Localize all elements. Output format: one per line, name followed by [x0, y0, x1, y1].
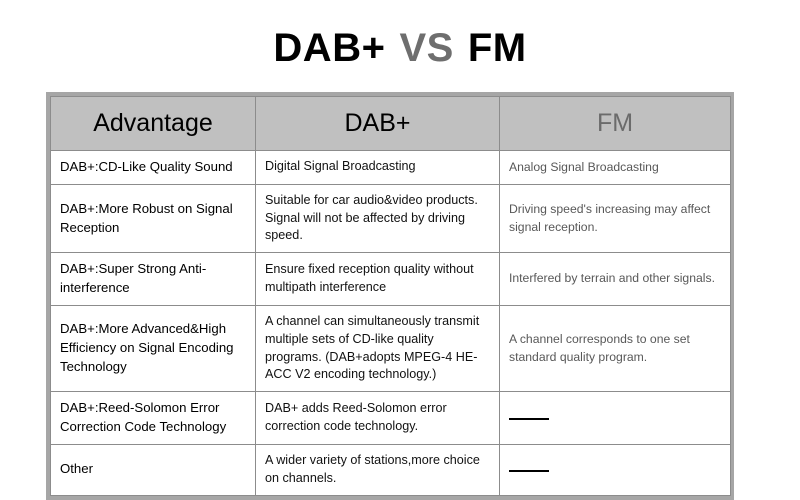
comparison-table-container: Advantage DAB+ FM DAB+:CD-Like Quality S…: [46, 92, 734, 500]
cell-advantage-text: Other: [60, 461, 93, 476]
table-row: DAB+:More Robust on Signal Reception Sui…: [51, 184, 731, 253]
column-header-dab: DAB+: [256, 97, 500, 151]
cell-advantage-text: DAB+:CD-Like Quality Sound: [60, 159, 233, 174]
cell-dab-text: A wider variety of stations,more choice …: [265, 453, 480, 485]
cell-fm-text: Analog Signal Broadcasting: [509, 160, 659, 174]
table-row: DAB+:Reed-Solomon Error Correction Code …: [51, 392, 731, 444]
column-header-advantage: Advantage: [51, 97, 256, 151]
cell-advantage: DAB+:Reed-Solomon Error Correction Code …: [51, 392, 256, 444]
title-vs: VS: [399, 26, 453, 70]
table-row: Other A wider variety of stations,more c…: [51, 444, 731, 495]
cell-dab-text: A channel can simultaneously transmit mu…: [265, 314, 479, 382]
cell-advantage: DAB+:Super Strong Anti-interference: [51, 253, 256, 305]
cell-advantage-text: DAB+:Reed-Solomon Error Correction Code …: [60, 400, 226, 434]
cell-dab: Suitable for car audio&video products. S…: [256, 184, 500, 253]
cell-fm: [500, 392, 731, 444]
title-fm: FM: [468, 26, 527, 70]
table-body: DAB+:CD-Like Quality Sound Digital Signa…: [51, 151, 731, 496]
table-row: DAB+:CD-Like Quality Sound Digital Signa…: [51, 151, 731, 185]
cell-dab: DAB+ adds Reed-Solomon error correction …: [256, 392, 500, 444]
cell-dab: A channel can simultaneously transmit mu…: [256, 305, 500, 392]
em-dash-icon: [509, 418, 549, 420]
cell-fm: Driving speed's increasing may affect si…: [500, 184, 731, 253]
cell-dab-text: Ensure fixed reception quality without m…: [265, 262, 474, 294]
table-row: DAB+:More Advanced&High Efficiency on Si…: [51, 305, 731, 392]
column-header-fm: FM: [500, 97, 731, 151]
cell-advantage: DAB+:CD-Like Quality Sound: [51, 151, 256, 185]
em-dash-icon: [509, 470, 549, 472]
cell-fm-text: Interfered by terrain and other signals.: [509, 271, 715, 285]
cell-dab-text: DAB+ adds Reed-Solomon error correction …: [265, 401, 447, 433]
comparison-table: Advantage DAB+ FM DAB+:CD-Like Quality S…: [50, 96, 731, 496]
cell-advantage-text: DAB+:Super Strong Anti-interference: [60, 261, 206, 295]
cell-fm: Analog Signal Broadcasting: [500, 151, 731, 185]
cell-fm: [500, 444, 731, 495]
table-row: DAB+:Super Strong Anti-interference Ensu…: [51, 253, 731, 305]
cell-advantage: DAB+:More Robust on Signal Reception: [51, 184, 256, 253]
cell-dab: Digital Signal Broadcasting: [256, 151, 500, 185]
page-title: DAB+VSFM: [0, 26, 800, 70]
table-header: Advantage DAB+ FM: [51, 97, 731, 151]
cell-dab: A wider variety of stations,more choice …: [256, 444, 500, 495]
table-header-row: Advantage DAB+ FM: [51, 97, 731, 151]
cell-dab-text: Digital Signal Broadcasting: [265, 159, 416, 173]
cell-fm: A channel corresponds to one set standar…: [500, 305, 731, 392]
cell-fm: Interfered by terrain and other signals.: [500, 253, 731, 305]
comparison-page: DAB+VSFM Advantage DAB+ FM DAB+:CD-Like …: [0, 0, 800, 483]
cell-dab: Ensure fixed reception quality without m…: [256, 253, 500, 305]
cell-advantage-text: DAB+:More Robust on Signal Reception: [60, 201, 233, 235]
cell-advantage: DAB+:More Advanced&High Efficiency on Si…: [51, 305, 256, 392]
cell-fm-text: Driving speed's increasing may affect si…: [509, 202, 710, 233]
title-dab-plus: DAB+: [273, 26, 385, 70]
cell-fm-text: A channel corresponds to one set standar…: [509, 332, 690, 363]
cell-dab-text: Suitable for car audio&video products. S…: [265, 193, 478, 243]
cell-advantage: Other: [51, 444, 256, 495]
cell-advantage-text: DAB+:More Advanced&High Efficiency on Si…: [60, 321, 234, 373]
